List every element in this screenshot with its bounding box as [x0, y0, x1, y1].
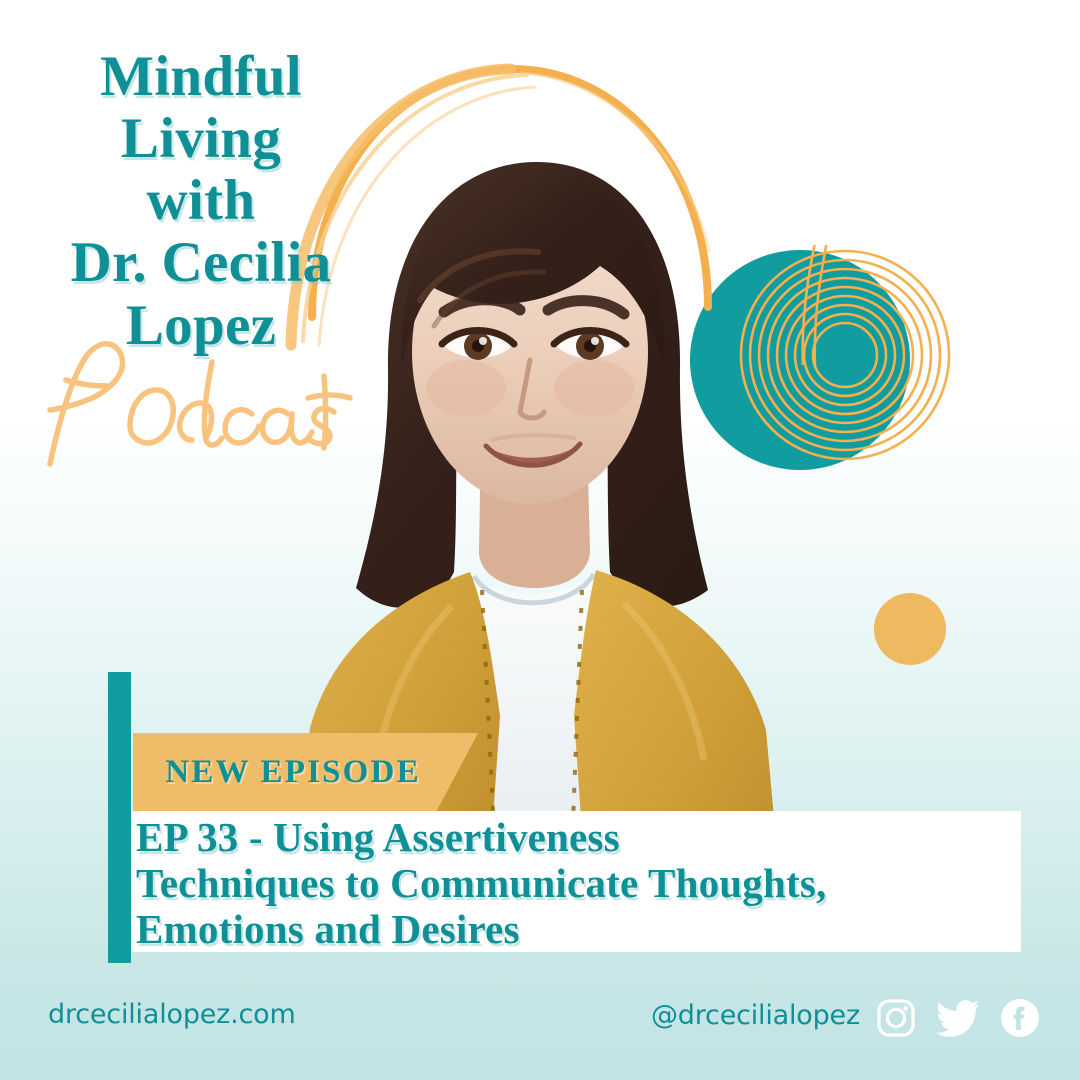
social-links [876, 998, 1040, 1038]
episode-title-band: EP 33 - Using Assertiveness Techniques t… [116, 811, 1021, 952]
new-episode-badge: NEW EPISODE [133, 733, 478, 811]
show-title-line-5: Lopez [36, 295, 366, 357]
facebook-icon[interactable] [1000, 998, 1040, 1038]
orange-dot-decoration [874, 593, 946, 665]
podcast-cover: Mindful Living with Dr. Cecilia Lopez [0, 0, 1080, 1080]
episode-title-line-2: Techniques to Communicate Thoughts, [136, 861, 1016, 907]
episode-title-line-3: Emotions and Desires [136, 907, 1016, 953]
show-title: Mindful Living with Dr. Cecilia Lopez [36, 46, 366, 357]
show-title-line-2: Living [36, 108, 366, 170]
show-title-line-4: Dr. Cecilia [36, 232, 366, 294]
social-handle[interactable]: @drcecilialopez [651, 1000, 860, 1031]
episode-title-line-1: EP 33 - Using Assertiveness [136, 815, 1016, 861]
twitter-icon[interactable] [936, 998, 980, 1038]
website-url[interactable]: drcecilialopez.com [48, 999, 296, 1030]
teal-accent-bar [108, 672, 131, 963]
episode-title: EP 33 - Using Assertiveness Techniques t… [136, 815, 1016, 953]
new-episode-label: NEW EPISODE [133, 733, 453, 811]
instagram-icon[interactable] [876, 998, 916, 1038]
show-title-line-1: Mindful [36, 46, 366, 108]
show-title-line-3: with [36, 170, 366, 232]
